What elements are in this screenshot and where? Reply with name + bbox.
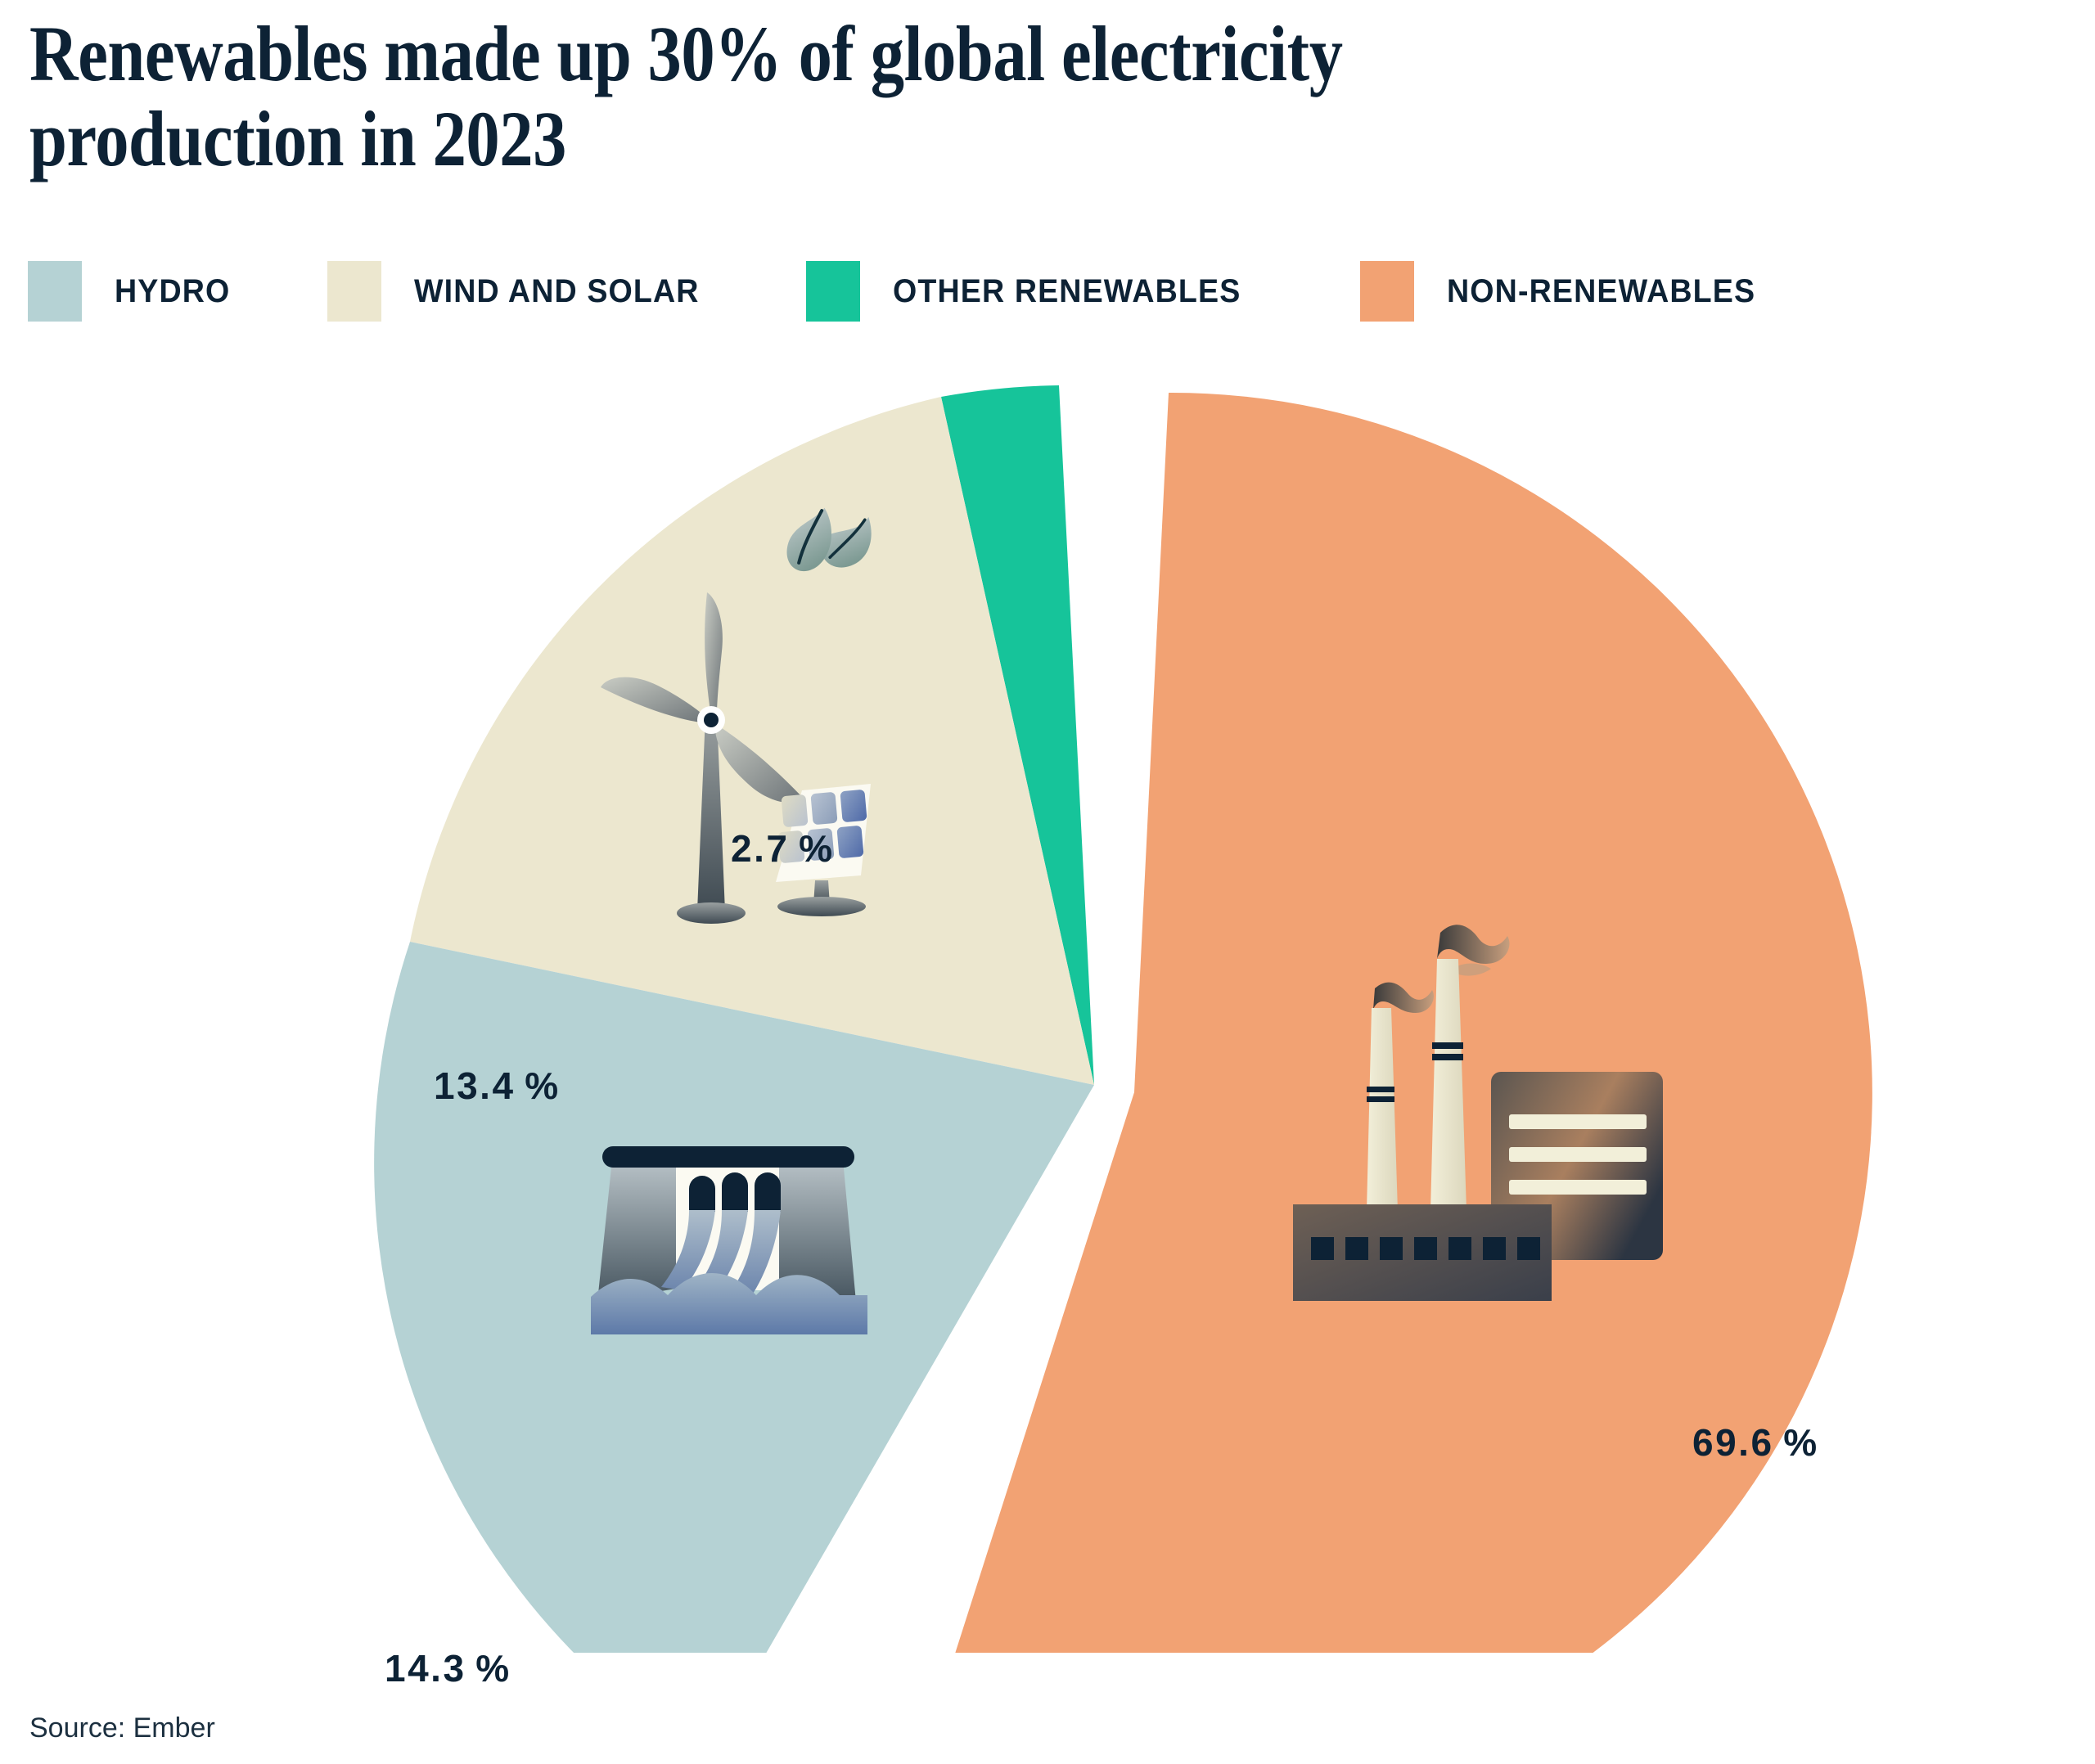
legend-item-non-renewables[interactable]: NON-RENEWABLES [1360,259,1775,324]
data-label-non-renewables: 69.6 % [1692,1420,1819,1465]
legend-label-other-renewables: OTHER RENEWABLES [893,273,1241,310]
legend-item-hydro[interactable]: HYDRO [28,259,237,324]
legend-label-non-renewables: NON-RENEWABLES [1447,273,1755,310]
legend-swatch-wind-and-solar [327,261,381,322]
chart-legend: HYDRO WIND AND SOLAR OTHER RENEWABLES NO… [28,259,2074,324]
data-label-wind-and-solar: 13.4 % [434,1064,561,1108]
pie-chart: 2.7 % 13.4 % 14.3 % 69.6 % [0,344,2095,1653]
page-title: Renewables made up 30% of global electri… [29,11,1648,181]
data-label-hydro: 14.3 % [385,1646,511,1690]
legend-swatch-other-renewables [806,261,860,322]
hydro-dam-icon [591,1146,867,1334]
legend-label-wind-and-solar: WIND AND SOLAR [414,273,700,310]
legend-swatch-hydro [28,261,82,322]
source-note: Source: Ember [29,1712,215,1744]
legend-label-hydro: HYDRO [115,273,230,310]
legend-item-other-renewables[interactable]: OTHER RENEWABLES [806,259,1264,324]
data-label-other-renewables: 2.7 % [731,826,835,871]
legend-item-wind-and-solar[interactable]: WIND AND SOLAR [327,259,718,324]
legend-swatch-non-renewables [1360,261,1414,322]
